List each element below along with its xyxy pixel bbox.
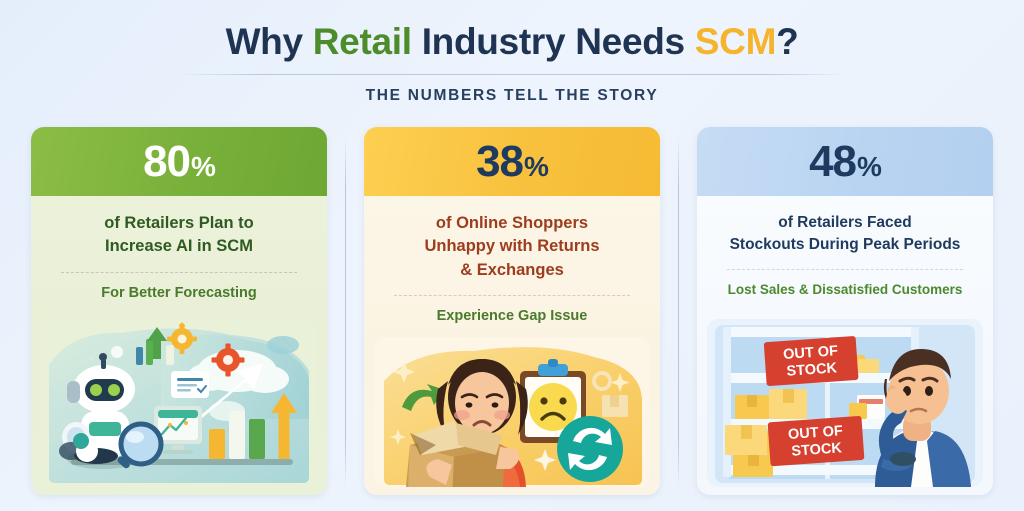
stat-line-2: Stockouts During Peak Periods xyxy=(730,234,961,256)
stat-line-3: & Exchanges xyxy=(424,259,599,282)
percent-number: 48 xyxy=(809,137,856,187)
illustration-robot-analytics-scene xyxy=(41,319,317,487)
stat-description-ai-forecasting: of Retailers Plan to Increase AI in SCM xyxy=(90,212,267,259)
card-dashed-divider xyxy=(61,272,298,273)
stat-cards-row: 80% of Retailers Plan to Increase AI in … xyxy=(0,127,1024,499)
stat-card-returns-exchanges: 38% of Online Shoppers Unhappy with Retu… xyxy=(364,127,660,495)
title-word-industry-needs: Industry Needs xyxy=(422,21,685,62)
card-dashed-divider xyxy=(727,269,964,270)
percent-value-stockouts: 48% xyxy=(809,137,881,187)
page-subtitle: THE NUMBERS TELL THE STORY xyxy=(0,87,1024,105)
illustration-unhappy-shopper-returns-scene xyxy=(374,337,650,487)
title-word-retail: Retail xyxy=(313,21,412,62)
card-header-returns-exchanges: 38% xyxy=(364,127,660,196)
card-header-ai-forecasting: 80% xyxy=(31,127,327,196)
title-divider xyxy=(177,74,847,75)
card-divider-1 xyxy=(345,137,346,489)
illustration-out-of-stock-shelves-scene: OUT OF STOCK OUT OF STOCK xyxy=(707,319,983,487)
card-tagline-returns-exchanges: Experience Gap Issue xyxy=(427,308,598,324)
card-dashed-divider xyxy=(394,295,631,296)
stat-description-stockouts: of Retailers Faced Stockouts During Peak… xyxy=(716,212,975,256)
stat-line-1: of Retailers Faced xyxy=(730,212,961,234)
percent-value-returns-exchanges: 38% xyxy=(476,137,548,187)
stat-line-2: Increase AI in SCM xyxy=(104,235,253,258)
percent-number: 80 xyxy=(143,137,190,187)
card-tagline-stockouts: Lost Sales & Dissatisfied Customers xyxy=(718,282,973,297)
card-tagline-ai-forecasting: For Better Forecasting xyxy=(91,285,267,301)
stat-description-returns-exchanges: of Online Shoppers Unhappy with Returns … xyxy=(410,212,613,282)
percent-number: 38 xyxy=(476,137,523,187)
percent-symbol: % xyxy=(857,151,881,183)
percent-value-ai-forecasting: 80% xyxy=(143,137,215,187)
stat-line-2: Unhappy with Returns xyxy=(424,235,599,258)
stat-line-1: of Online Shoppers xyxy=(424,212,599,235)
page-title: Why Retail Industry Needs SCM? xyxy=(0,22,1024,63)
card-divider-2 xyxy=(678,137,679,489)
stat-card-stockouts: 48% of Retailers Faced Stockouts During … xyxy=(697,127,993,495)
stat-card-ai-forecasting: 80% of Retailers Plan to Increase AI in … xyxy=(31,127,327,495)
card-header-stockouts: 48% xyxy=(697,127,993,196)
header: Why Retail Industry Needs SCM? THE NUMBE… xyxy=(0,0,1024,105)
title-word-scm: SCM xyxy=(695,21,776,62)
stat-line-1: of Retailers Plan to xyxy=(104,212,253,235)
title-question-mark: ? xyxy=(776,21,798,62)
title-word-why: Why xyxy=(226,21,303,62)
percent-symbol: % xyxy=(524,151,548,183)
percent-symbol: % xyxy=(191,151,215,183)
